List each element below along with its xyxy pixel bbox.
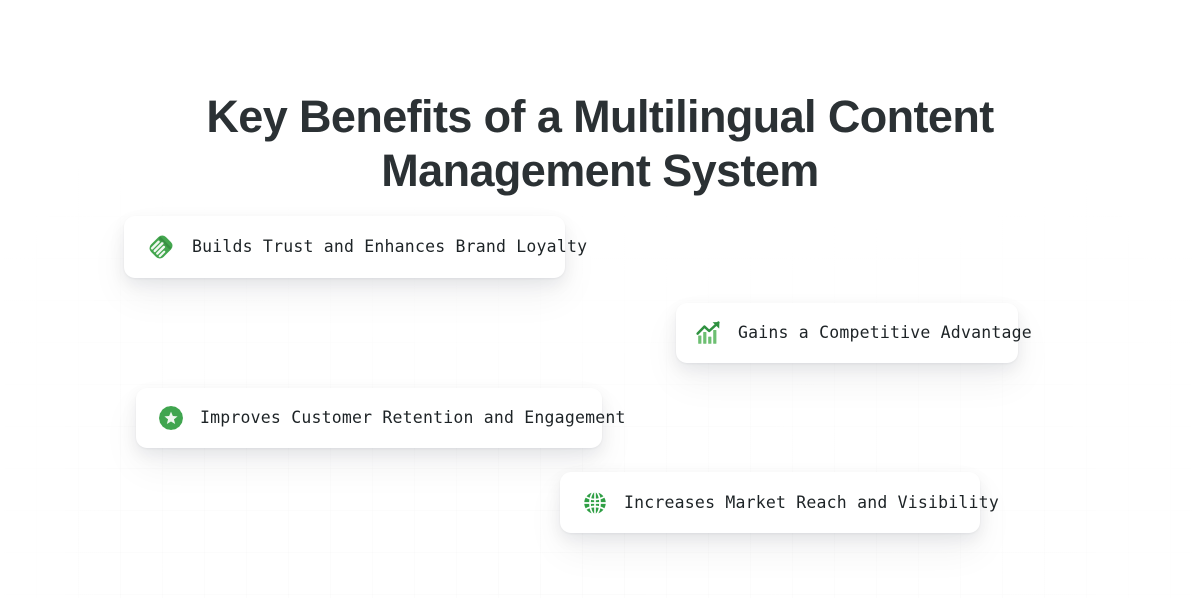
benefit-card-label: Gains a Competitive Advantage xyxy=(738,323,1032,343)
page-title-line-1: Key Benefits of a Multilingual Content xyxy=(120,90,1080,144)
page-title-line-2: Management System xyxy=(120,144,1080,198)
benefit-card-competitive[interactable]: Gains a Competitive Advantage xyxy=(676,303,1018,363)
benefit-card-label: Improves Customer Retention and Engageme… xyxy=(200,408,626,428)
benefit-card-retention[interactable]: Improves Customer Retention and Engageme… xyxy=(136,388,602,448)
handshake-icon xyxy=(146,232,176,262)
benefit-card-trust[interactable]: Builds Trust and Enhances Brand Loyalty xyxy=(124,216,565,278)
star-badge-icon xyxy=(156,403,186,433)
benefit-card-label: Builds Trust and Enhances Brand Loyalty xyxy=(192,237,587,257)
benefit-card-label: Increases Market Reach and Visibility xyxy=(624,493,999,513)
page-title: Key Benefits of a Multilingual Content M… xyxy=(0,90,1200,198)
chart-increasing-icon xyxy=(694,318,724,348)
benefit-card-reach[interactable]: Increases Market Reach and Visibility xyxy=(560,472,980,533)
globe-icon xyxy=(580,488,610,518)
